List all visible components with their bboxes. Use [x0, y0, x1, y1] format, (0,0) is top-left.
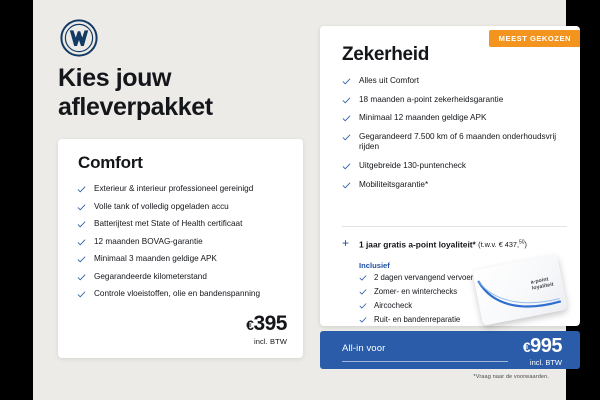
check-icon	[359, 302, 367, 310]
page-title: Kies jouw afleverpakket	[58, 64, 298, 122]
check-icon	[359, 274, 367, 282]
list-item-label: Batterijtest met State of Health certifi…	[94, 219, 242, 228]
list-item: Alles uit Comfort	[342, 76, 567, 87]
divider	[342, 226, 567, 227]
zekerheid-price: €995	[523, 336, 562, 358]
list-item-label: Minimaal 12 maanden geldige APK	[359, 113, 486, 122]
list-item: Gegarandeerde kilometerstand	[77, 272, 289, 283]
price-value: 995	[530, 335, 562, 357]
loyalty-worth-prefix: (t.w.v. € 437,	[478, 240, 519, 249]
check-icon	[359, 288, 367, 296]
zekerheid-price-note: incl. BTW	[523, 358, 562, 367]
check-icon	[77, 290, 86, 299]
zekerheid-price-bar: All-in voor €995 incl. BTW	[320, 331, 580, 369]
list-item-label: Gegarandeerd 7.500 km of 6 maanden onder…	[359, 132, 556, 152]
check-icon	[77, 185, 86, 194]
list-item: Controle vloeistoffen, olie en bandenspa…	[77, 289, 289, 300]
check-icon	[342, 162, 351, 171]
price-value: 395	[253, 312, 287, 335]
price-underline	[342, 361, 508, 362]
check-icon	[77, 203, 86, 212]
inclusief-title: Inclusief	[359, 261, 390, 270]
check-icon	[342, 114, 351, 123]
list-item: Exterieur & interieur professioneel gere…	[77, 184, 289, 195]
vw-logo-icon	[59, 18, 99, 58]
list-item-label: Controle vloeistoffen, olie en bandenspa…	[94, 289, 260, 298]
check-icon	[342, 96, 351, 105]
headline-line-1: Kies jouw	[58, 64, 298, 93]
headline-line-2: afleverpakket	[58, 93, 298, 122]
list-item: Volle tank of volledig opgeladen accu	[77, 202, 289, 213]
zekerheid-title: Zekerheid	[342, 44, 429, 66]
list-item-label: 2 dagen vervangend vervoer	[374, 273, 473, 282]
promo-canvas: Kies jouw afleverpakket Comfort Exterieu…	[33, 0, 566, 400]
comfort-feature-list: Exterieur & interieur professioneel gere…	[77, 184, 289, 307]
check-icon	[77, 238, 86, 247]
plus-icon: +	[342, 238, 352, 248]
loyalty-worth: (t.w.v. € 437,50)	[478, 240, 527, 249]
comfort-price: €395	[246, 313, 287, 336]
loyalty-plus-row: +1 jaar gratis a-point loyaliteit* (t.w.…	[342, 238, 580, 250]
list-item-label: Ruit- en bandenreparatie	[374, 315, 460, 324]
footnote: *Vraag naar de voorwaarden.	[473, 374, 549, 380]
check-icon	[77, 220, 86, 229]
loyalty-worth-suffix: )	[525, 240, 527, 249]
list-item: Batterijtest met State of Health certifi…	[77, 219, 289, 230]
list-item-label: Zomer- en winterchecks	[374, 287, 457, 296]
screenshot-stage: Kies jouw afleverpakket Comfort Exterieu…	[0, 0, 600, 400]
check-icon	[342, 181, 351, 190]
list-item-label: 12 maanden BOVAG-garantie	[94, 237, 203, 246]
comfort-price-note: incl. BTW	[246, 337, 287, 346]
list-item: 12 maanden BOVAG-garantie	[77, 237, 289, 248]
zekerheid-feature-list: Alles uit Comfort 18 maanden a-point zek…	[342, 76, 567, 198]
zekerheid-price-block: €995 incl. BTW	[523, 336, 562, 367]
check-icon	[342, 77, 351, 86]
list-item: Minimaal 3 maanden geldige APK	[77, 254, 289, 265]
list-item: Gegarandeerd 7.500 km of 6 maanden onder…	[342, 132, 567, 153]
loyalty-plus-label: 1 jaar gratis a-point loyaliteit*	[359, 239, 476, 249]
check-icon	[77, 273, 86, 282]
check-icon	[342, 133, 351, 142]
comfort-title: Comfort	[78, 153, 143, 173]
list-item-label: Exterieur & interieur professioneel gere…	[94, 184, 253, 193]
comfort-package-card[interactable]: Comfort Exterieur & interieur profession…	[58, 139, 303, 358]
list-item-label: Volle tank of volledig opgeladen accu	[94, 202, 229, 211]
list-item-label: Gegarandeerde kilometerstand	[94, 272, 207, 281]
list-item-label: 18 maanden a-point zekerheidsgarantie	[359, 95, 503, 104]
list-item: 18 maanden a-point zekerheidsgarantie	[342, 95, 567, 106]
list-item-label: Mobiliteitsgarantie*	[359, 180, 428, 189]
check-icon	[77, 255, 86, 264]
allin-label: All-in voor	[342, 343, 385, 354]
comfort-price-block: €395 incl. BTW	[246, 313, 287, 346]
check-icon	[359, 316, 367, 324]
status-badge: MEEST GEKOZEN	[489, 30, 580, 47]
list-item: Uitgebreide 130-puntencheck	[342, 161, 567, 172]
list-item-label: Minimaal 3 maanden geldige APK	[94, 254, 217, 263]
list-item-label: Alles uit Comfort	[359, 76, 419, 85]
list-item-label: Uitgebreide 130-puntencheck	[359, 161, 466, 170]
list-item: Minimaal 12 maanden geldige APK	[342, 113, 567, 124]
list-item-label: Aircocheck	[374, 301, 412, 310]
list-item: Mobiliteitsgarantie*	[342, 180, 567, 191]
